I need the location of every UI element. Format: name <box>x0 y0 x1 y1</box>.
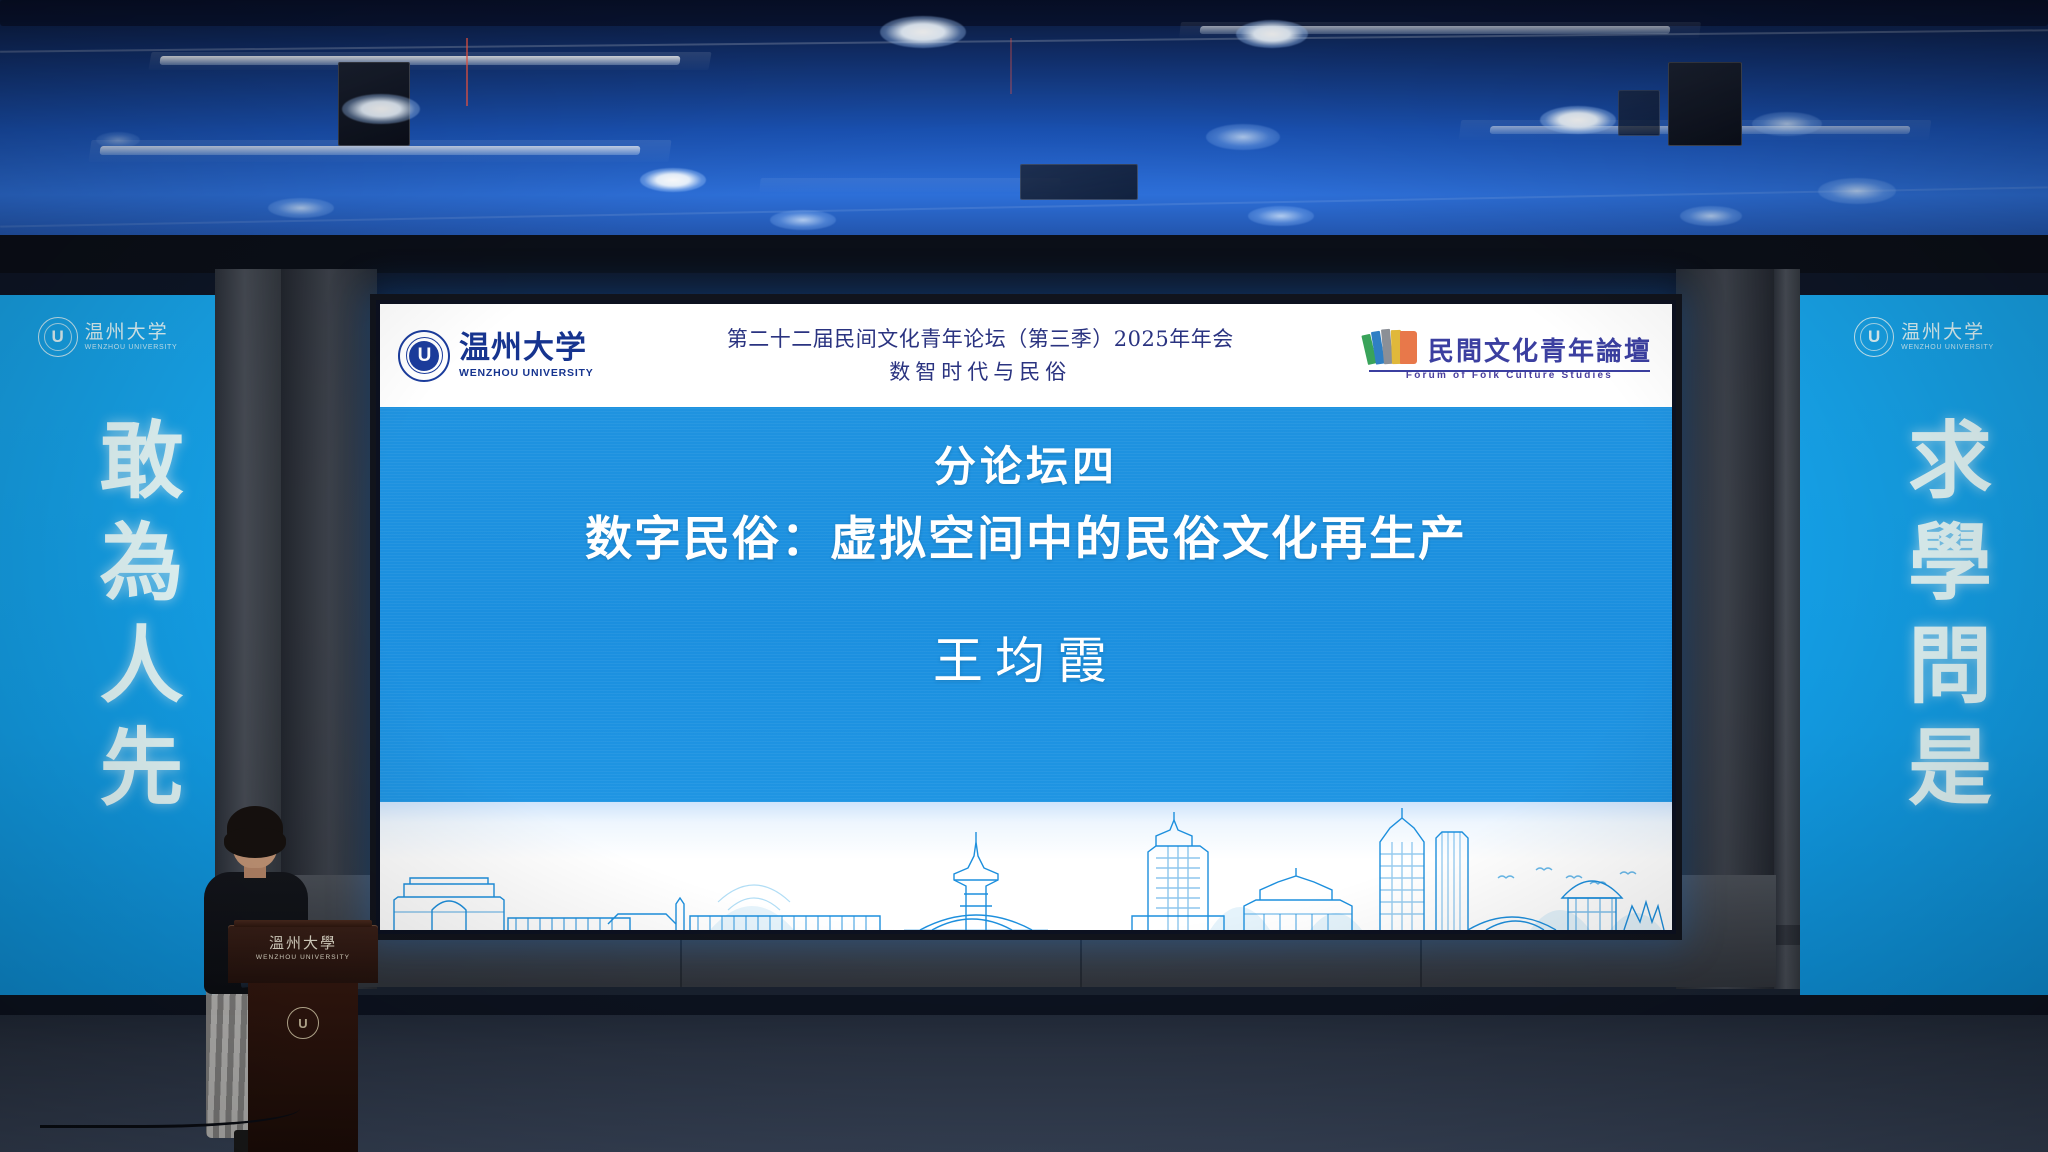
presenter-hair <box>227 806 283 850</box>
lectern-label: 溫州大學 WENZHOU UNIVERSITY <box>228 936 378 961</box>
lectern-label-cn: 溫州大學 <box>269 936 337 951</box>
motto-char: 問 <box>1908 615 1992 717</box>
slide-university-logo: U 温州大学 WENZHOU UNIVERSITY <box>398 330 594 382</box>
conference-theme: 数智时代与民俗 <box>889 356 1071 389</box>
downlight <box>880 16 966 48</box>
downlight <box>640 168 706 192</box>
conference-name: 第二十二届民间文化青年论坛（第三季）2025年年会 <box>727 323 1234 356</box>
university-seal-icon: U <box>398 330 450 382</box>
downlight <box>268 198 334 218</box>
motto-char: 敢 <box>99 410 183 512</box>
right-led-banner: U 温州大学 WENZHOU UNIVERSITY 求 學 問 是 <box>1800 295 2048 1085</box>
slide-university-en: WENZHOU UNIVERSITY <box>459 368 594 379</box>
lectern-label-en: WENZHOU UNIVERSITY <box>256 954 350 961</box>
right-banner-university-cn: 温州大学 <box>1901 323 1985 344</box>
presentation-slide: U 温州大学 WENZHOU UNIVERSITY 第二十二届民间文化青年论坛（… <box>380 304 1672 930</box>
folk-culture-forum-logo: 民間文化青年論壇 Forum of Folk Culture Studies <box>1367 326 1652 385</box>
university-seal-icon: U <box>1854 317 1894 357</box>
downlight <box>342 94 420 124</box>
downlight <box>1680 206 1742 226</box>
right-banner-university-en: WENZHOU UNIVERSITY <box>1901 344 1994 351</box>
left-led-banner: U 温州大学 WENZHOU UNIVERSITY 敢 為 人 先 <box>0 295 215 1085</box>
ceiling-speaker-far-right <box>1618 90 1660 136</box>
downlight <box>1236 20 1308 48</box>
downlight <box>770 210 836 230</box>
downlight <box>96 132 140 148</box>
motto-char: 求 <box>1908 410 1992 512</box>
motto-char: 學 <box>1908 512 1992 614</box>
main-led-screen: U 温州大学 WENZHOU UNIVERSITY 第二十二届民间文化青年论坛（… <box>376 300 1676 934</box>
slide-body: 分论坛四 数字民俗：虚拟空间中的民俗文化再生产 王均霞 <box>380 407 1672 802</box>
city-skyline-illustration <box>380 802 1672 930</box>
downlight <box>1248 206 1314 226</box>
left-banner-motto: 敢 為 人 先 <box>0 410 215 820</box>
left-banner-university-logo: U 温州大学 WENZHOU UNIVERSITY <box>0 317 215 357</box>
lectern-body: U <box>248 983 358 1152</box>
conference-hall-scene: U 温州大学 WENZHOU UNIVERSITY 敢 為 人 先 <box>0 0 2048 1152</box>
speaker-name: 王均霞 <box>933 621 1119 693</box>
session-title: 数字民俗：虚拟空间中的民俗文化再生产 <box>585 500 1467 569</box>
lectern-top: 溫州大學 WENZHOU UNIVERSITY <box>228 925 378 983</box>
seal-glyph: U <box>409 341 439 371</box>
university-seal-icon: U <box>38 317 78 357</box>
downlight <box>1540 106 1616 134</box>
session-number: 分论坛四 <box>934 433 1118 494</box>
motto-char: 為 <box>99 512 183 614</box>
right-banner-motto: 求 學 問 是 <box>1800 410 2048 820</box>
books-icon <box>1367 326 1421 368</box>
ceiling <box>0 0 2048 250</box>
downlight <box>1206 124 1280 150</box>
motto-char: 是 <box>1908 717 1992 819</box>
left-banner-university-en: WENZHOU UNIVERSITY <box>85 344 178 351</box>
slide-university-cn: 温州大学 <box>459 333 594 364</box>
forum-logo-cn: 民間文化青年論壇 <box>1428 331 1652 368</box>
slide-skyline-footer <box>380 802 1672 930</box>
downlight <box>1818 178 1896 204</box>
motto-char: 人 <box>99 615 183 717</box>
right-banner-university-logo: U 温州大学 WENZHOU UNIVERSITY <box>1800 317 2048 357</box>
downlight <box>1752 112 1822 136</box>
slide-header: U 温州大学 WENZHOU UNIVERSITY 第二十二届民间文化青年论坛（… <box>380 304 1672 407</box>
conference-header-titles: 第二十二届民间文化青年论坛（第三季）2025年年会 数智时代与民俗 <box>594 323 1367 388</box>
lectern-seal-icon: U <box>287 1007 319 1039</box>
ceiling-speaker-right <box>1668 62 1742 146</box>
ceiling-speaker-center <box>1020 164 1138 200</box>
left-banner-university-cn: 温州大学 <box>85 323 169 344</box>
motto-char: 先 <box>99 717 183 819</box>
